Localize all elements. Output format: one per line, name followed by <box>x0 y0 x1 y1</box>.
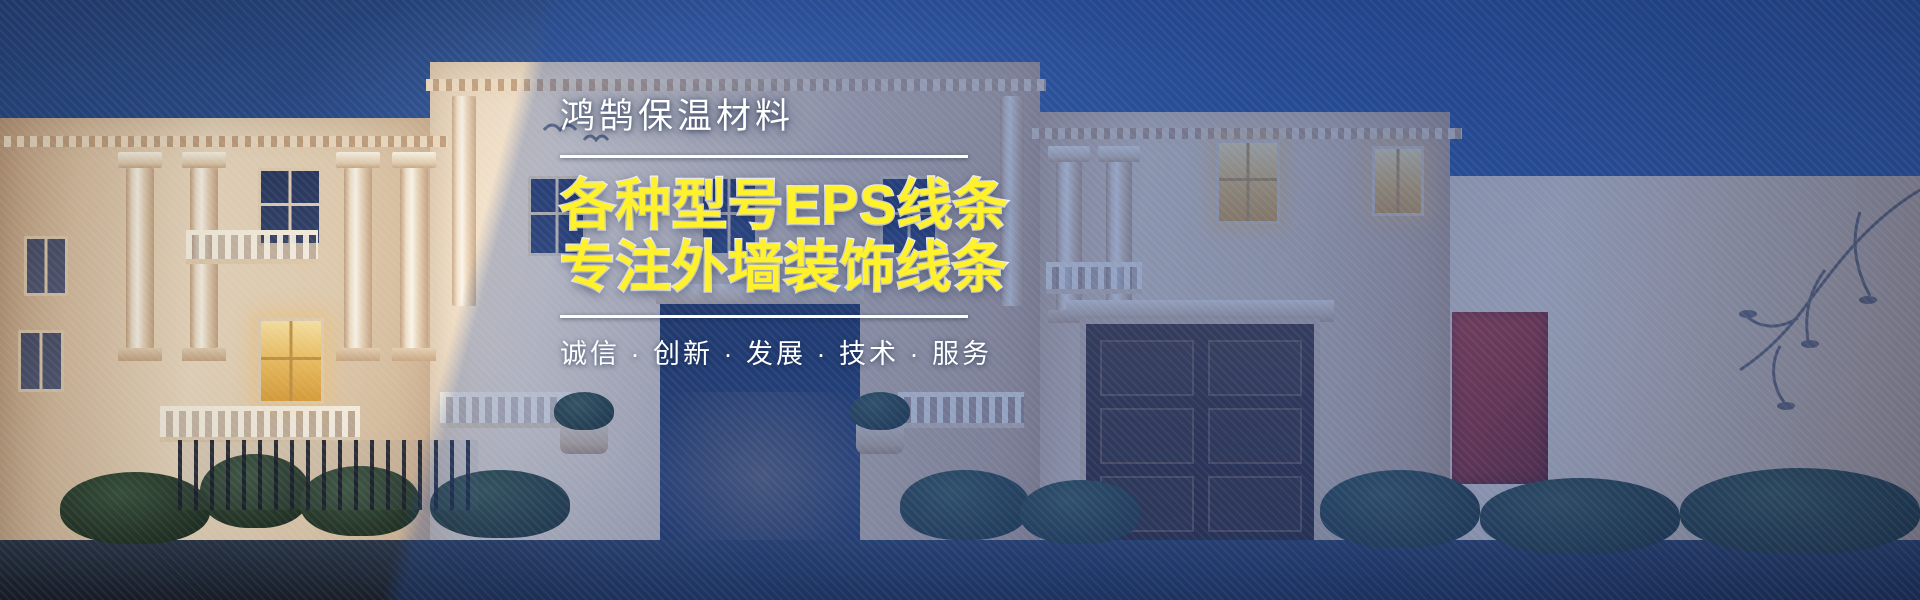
tagline: 诚信 · 创新 · 发展 · 技术 · 服务 <box>560 332 1030 371</box>
divider-bottom <box>560 315 968 318</box>
banner-root: 鸿鹄保温材料 各种型号EPS线条 专注外墙装饰线条 诚信 · 创新 · 发展 ·… <box>0 0 1920 600</box>
headline-line-2: 专注外墙装饰线条 <box>560 236 1030 299</box>
brand-name: 鸿鹄保温材料 <box>560 98 1030 137</box>
divider-top <box>560 155 968 158</box>
banner-text-block: 鸿鹄保温材料 各种型号EPS线条 专注外墙装饰线条 诚信 · 创新 · 发展 ·… <box>560 98 1030 371</box>
headline-line-1: 各种型号EPS线条 <box>560 174 1030 237</box>
